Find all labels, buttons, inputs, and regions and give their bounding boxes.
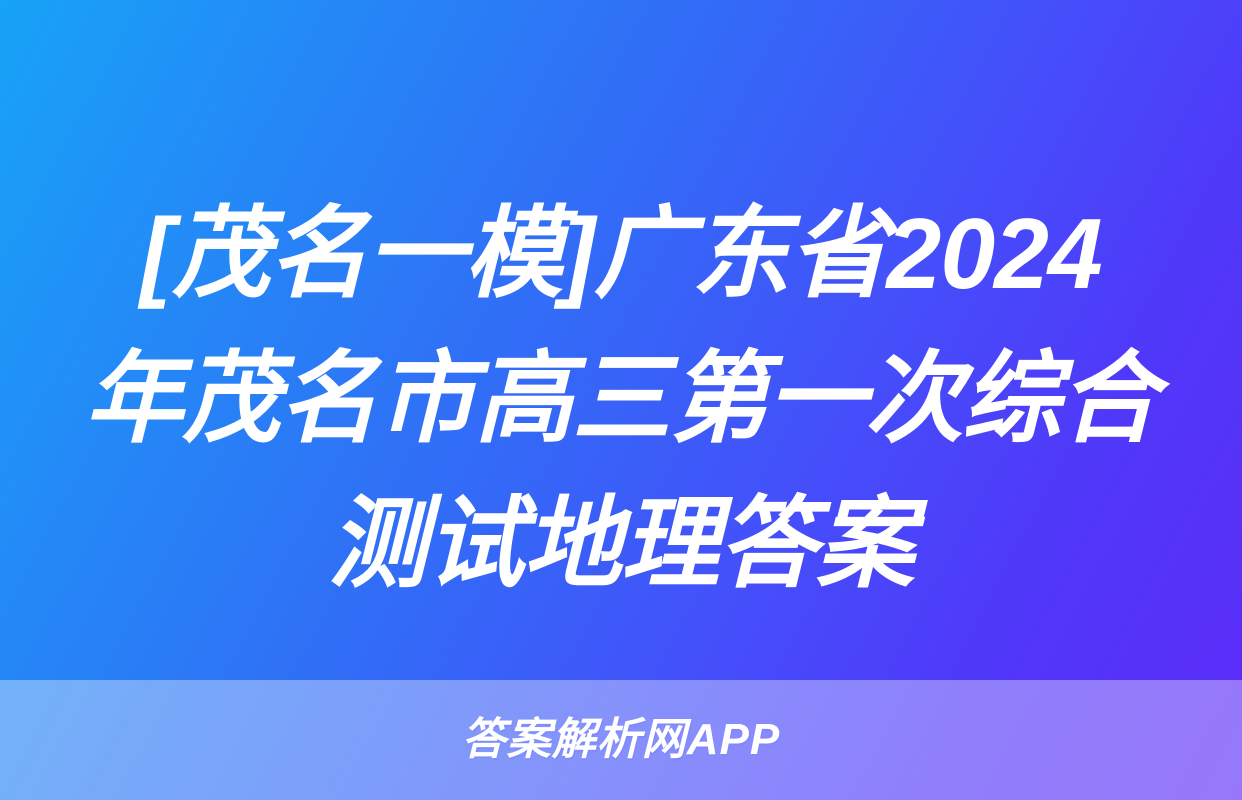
watermark-label: 答案解析网APP bbox=[462, 715, 780, 765]
poster-canvas: [茂名一模]广东省2024 年茂名市高三第一次综合 测试地理答案 答案解析网AP… bbox=[0, 0, 1242, 800]
watermark-band: 答案解析网APP bbox=[0, 680, 1242, 800]
title-line-3: 测试地理答案 bbox=[64, 472, 1177, 617]
title-line-1: [茂名一模]广东省2024 bbox=[64, 182, 1177, 327]
title-line-2: 年茂名市高三第一次综合 bbox=[64, 327, 1177, 472]
page-title: [茂名一模]广东省2024 年茂名市高三第一次综合 测试地理答案 bbox=[0, 182, 1242, 617]
